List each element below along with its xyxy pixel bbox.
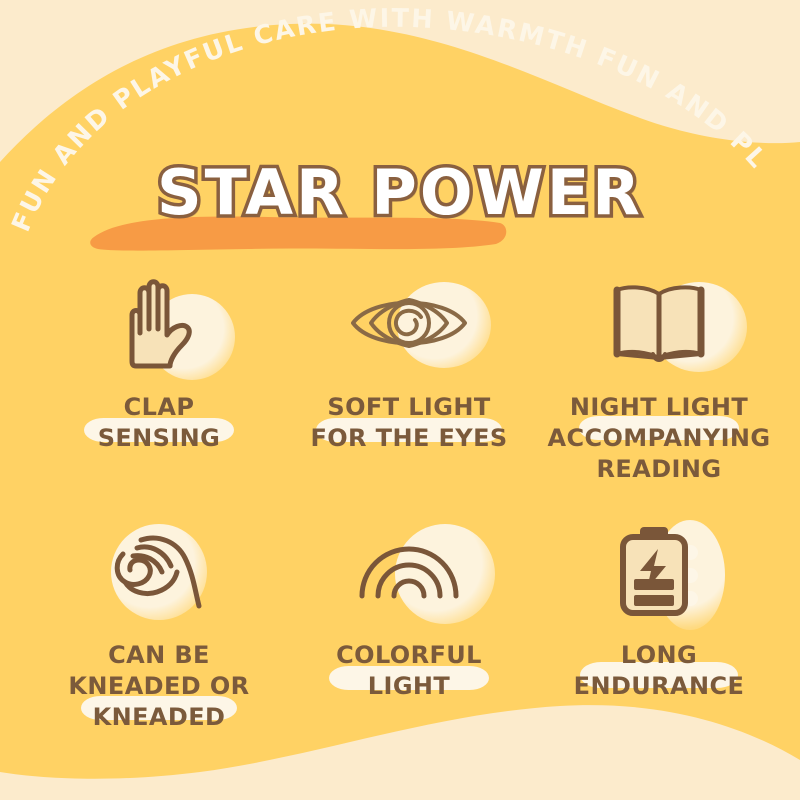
caption-line: SENSING: [34, 423, 284, 454]
icon-slot: [589, 516, 729, 626]
icon-slot: [339, 516, 479, 626]
feature-caption: COLORFUL LIGHT: [284, 640, 534, 702]
feature-caption: CLAP SENSING: [34, 392, 284, 454]
feature-caption: CAN BE KNEADED OR KNEADED: [34, 640, 284, 733]
caption-line: LONG: [534, 640, 784, 671]
caption-line: NIGHT LIGHT: [534, 392, 784, 423]
title-block: STAR POWER: [0, 150, 800, 260]
feature-caption: LONG ENDURANCE: [534, 640, 784, 702]
feature-caption: NIGHT LIGHT ACCOMPANYING READING: [534, 392, 784, 485]
caption-line: CAN BE: [34, 640, 284, 671]
feature-item: NIGHT LIGHT ACCOMPANYING READING: [534, 268, 784, 506]
caption-line: SOFT LIGHT: [284, 392, 534, 423]
caption-line: CLAP: [34, 392, 284, 423]
icon-slot: [89, 268, 229, 378]
poster-canvas: FUN AND PLAYFUL CARE WITH WARMTH FUN AND…: [0, 0, 800, 800]
icon-slot: [589, 268, 729, 378]
feature-caption: SOFT LIGHT FOR THE EYES: [284, 392, 534, 454]
caption-line: ACCOMPANYING: [534, 423, 784, 454]
page-title: STAR POWER: [0, 150, 800, 236]
caption-line: KNEADED: [34, 702, 284, 733]
caption-line: LIGHT: [284, 671, 534, 702]
caption-line: ENDURANCE: [534, 671, 784, 702]
caption-line: FOR THE EYES: [284, 423, 534, 454]
caption-line: KNEADED OR: [34, 671, 284, 702]
caption-line: COLORFUL: [284, 640, 534, 671]
icon-slot: [339, 268, 479, 378]
open-book-icon: [611, 280, 707, 366]
hand-clap-icon: [116, 273, 202, 373]
rainbow-icon: [356, 540, 462, 602]
feature-grid: CLAP SENSING SOFT LIGHT: [34, 268, 766, 754]
icon-slot: [89, 516, 229, 626]
feature-item: CLAP SENSING: [34, 268, 284, 506]
feature-item: COLORFUL LIGHT: [284, 516, 534, 754]
knead-hand-icon: [111, 528, 207, 614]
eye-icon: [349, 288, 469, 358]
battery-icon: [616, 523, 702, 619]
feature-item: CAN BE KNEADED OR KNEADED: [34, 516, 284, 754]
feature-item: SOFT LIGHT FOR THE EYES: [284, 268, 534, 506]
feature-item: LONG ENDURANCE: [534, 516, 784, 754]
caption-line: READING: [534, 454, 784, 485]
